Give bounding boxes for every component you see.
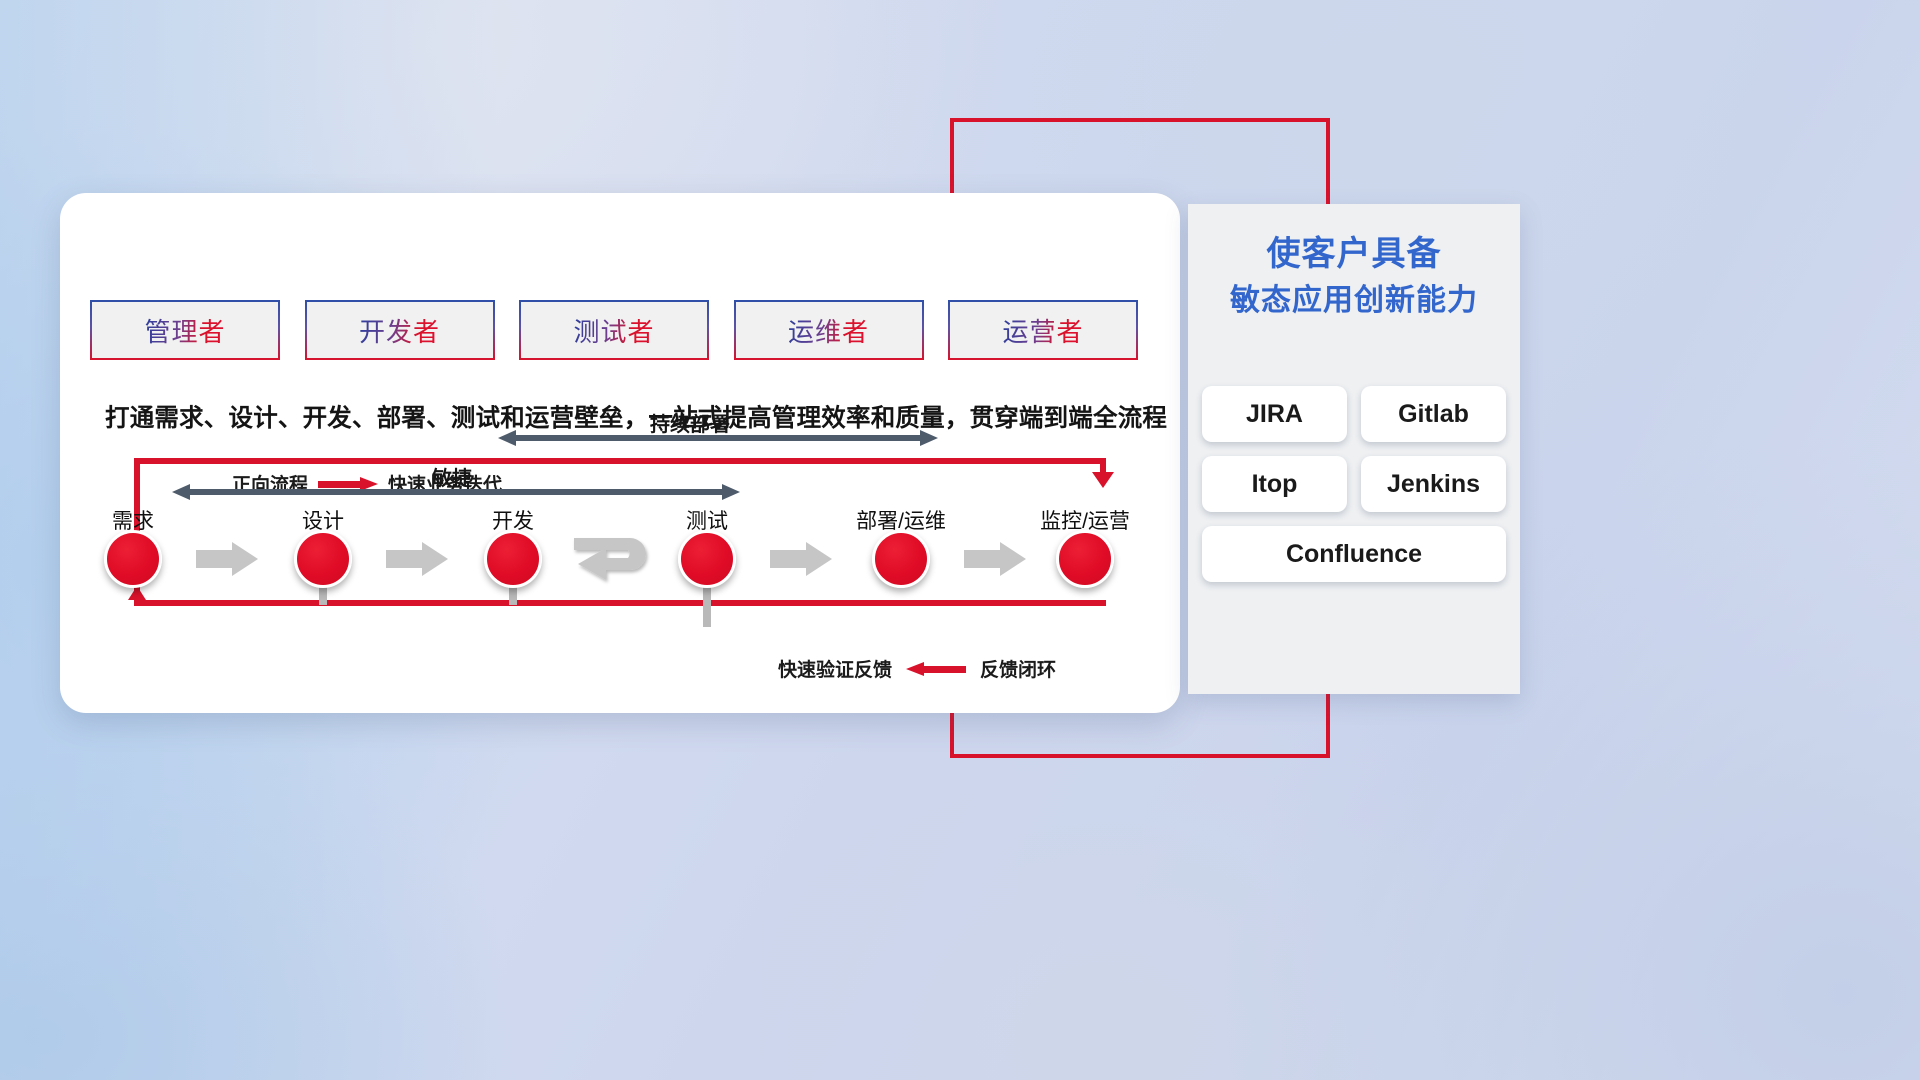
connector-frame-top bbox=[950, 118, 1330, 122]
stage-node-development[interactable] bbox=[484, 530, 542, 588]
stage-node-testing[interactable] bbox=[678, 530, 736, 588]
legend-feedback-source-label: 反馈闭环 bbox=[980, 655, 1056, 682]
tool-chip-gitlab[interactable]: Gitlab bbox=[1361, 386, 1506, 442]
tools-panel-title: 使客户具备 敏态应用创新能力 bbox=[1188, 230, 1520, 323]
tool-chip-itop[interactable]: Itop bbox=[1202, 456, 1347, 512]
flow-arrow-test-to-deploy-icon bbox=[770, 542, 832, 576]
flow-arrow-design-to-dev-icon bbox=[386, 542, 448, 576]
tool-chip-jenkins[interactable]: Jenkins bbox=[1361, 456, 1506, 512]
role-box-border bbox=[734, 300, 924, 360]
tool-chip-confluence[interactable]: Confluence bbox=[1202, 526, 1506, 582]
tools-panel-title-line2: 敏态应用创新能力 bbox=[1188, 279, 1520, 323]
tool-chip-jira[interactable]: JIRA bbox=[1202, 386, 1347, 442]
role-box-border bbox=[519, 300, 709, 360]
stage-node-monitor-operations[interactable] bbox=[1056, 530, 1114, 588]
tool-chip-group: JIRA Gitlab Itop Jenkins Confluence bbox=[1202, 386, 1506, 582]
connector-frame-bottom bbox=[950, 754, 1330, 758]
role-box-manager[interactable]: 管理者 bbox=[90, 300, 280, 360]
loop-red-bottom-bar bbox=[134, 600, 1106, 606]
role-box-operations[interactable]: 运营者 bbox=[948, 300, 1138, 360]
legend-feedback-target-label: 快速验证反馈 bbox=[778, 655, 892, 682]
arrow-left-red-icon bbox=[906, 662, 966, 676]
span-arrow-agile bbox=[172, 484, 740, 500]
role-box-tester[interactable]: 测试者 bbox=[519, 300, 709, 360]
stage-node-deploy-ops[interactable] bbox=[872, 530, 930, 588]
role-box-ops[interactable]: 运维者 bbox=[734, 300, 924, 360]
legend-feedback-loop: 快速验证反馈 反馈闭环 bbox=[778, 655, 1056, 682]
role-box-border bbox=[948, 300, 1138, 360]
role-box-border bbox=[305, 300, 495, 360]
loop-red-arrowhead-up-icon bbox=[128, 586, 146, 600]
loop-red-top-bar bbox=[134, 458, 1106, 464]
role-box-border bbox=[90, 300, 280, 360]
tools-panel: 使客户具备 敏态应用创新能力 JIRA Gitlab Itop Jenkins … bbox=[1188, 204, 1520, 694]
flow-arrow-req-to-design-icon bbox=[196, 542, 258, 576]
headline-text: 打通需求、设计、开发、部署、测试和运营壁垒，一站式提高管理效率和质量，贯穿端到端… bbox=[105, 399, 1165, 434]
flow-arrow-dev-test-loop-icon bbox=[572, 528, 664, 596]
stage-node-design[interactable] bbox=[294, 530, 352, 588]
tools-panel-title-line1: 使客户具备 bbox=[1188, 230, 1520, 279]
role-box-group: 管理者 开发者 测试者 运维者 运营者 bbox=[90, 300, 1138, 378]
span-arrow-continuous-deployment bbox=[498, 430, 938, 446]
role-box-developer[interactable]: 开发者 bbox=[305, 300, 495, 360]
loop-red-arrowhead-down-icon bbox=[1092, 472, 1114, 488]
flow-arrow-deploy-to-monitor-icon bbox=[964, 542, 1026, 576]
main-card bbox=[60, 193, 1180, 713]
stage-node-requirements[interactable] bbox=[104, 530, 162, 588]
